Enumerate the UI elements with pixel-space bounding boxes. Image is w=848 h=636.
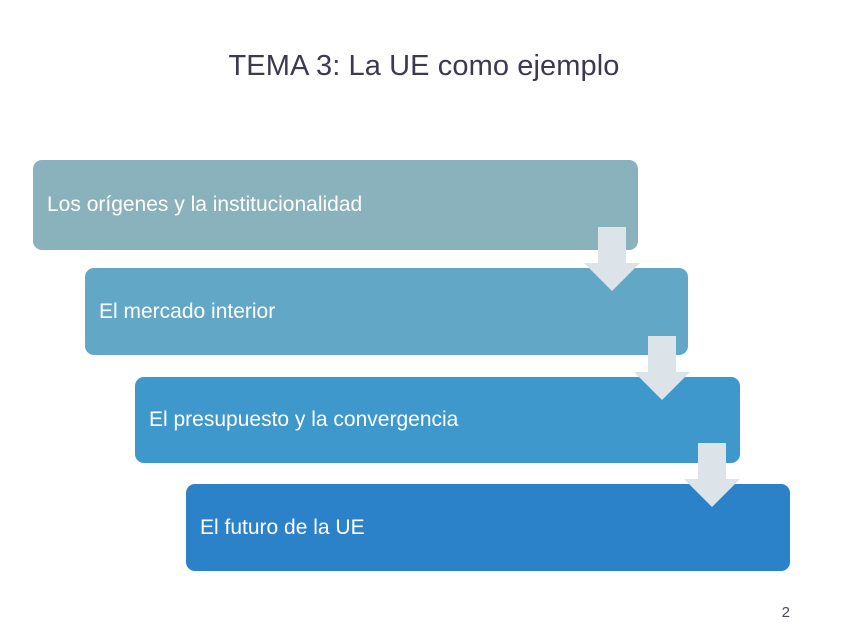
arrow-down-shape <box>634 336 690 400</box>
arrow-down-icon-stage-2-to-3 <box>634 336 690 400</box>
stage-box-1-label: Los orígenes y la institucionalidad <box>33 192 362 218</box>
stage-box-3-label: El presupuesto y la convergencia <box>135 407 458 433</box>
cascading-stage-diagram: Los orígenes y la institucionalidad El m… <box>0 0 848 636</box>
slide-canvas: TEMA 3: La UE como ejemplo Los orígenes … <box>0 0 848 636</box>
arrow-down-icon-stage-3-to-4 <box>684 443 740 507</box>
stage-box-1[interactable]: Los orígenes y la institucionalidad <box>33 160 638 250</box>
arrow-down-shape <box>584 227 640 291</box>
arrow-down-icon-stage-1-to-2 <box>584 227 640 291</box>
arrow-down-shape <box>684 443 740 507</box>
stage-box-4-label: El futuro de la UE <box>186 515 365 541</box>
page-number: 2 <box>782 604 790 622</box>
stage-box-2-label: El mercado interior <box>85 299 275 325</box>
